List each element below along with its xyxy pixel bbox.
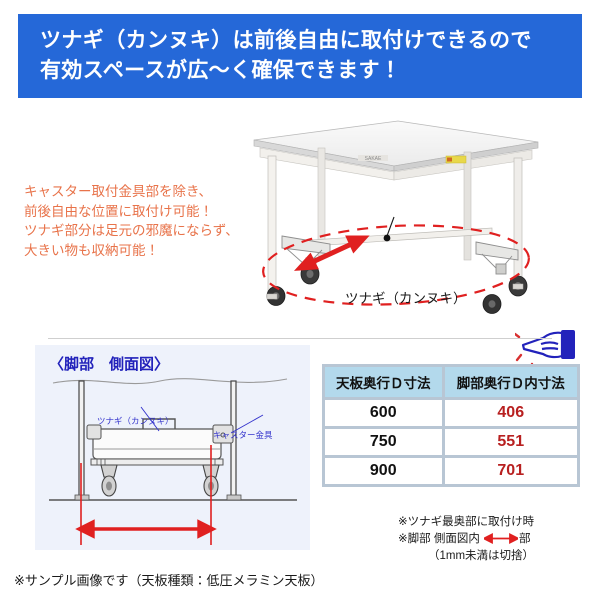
note-line-1: ※ツナギ最奥部に取付け時 [398, 514, 598, 531]
banner-line-2: 有効スペースが広～く確保できます！ [40, 56, 582, 86]
section-divider [48, 338, 552, 339]
cell-top-depth: 750 [325, 429, 442, 455]
product-photo-area: キャスター取付金具部を除き、 前後自由な位置に取付け可能！ ツナギ部分は足元の邪… [0, 104, 600, 336]
table-header-row: 天板奥行Ｄ寸法 脚部奥行Ｄ内寸法 [325, 367, 577, 397]
cell-leg-depth: 701 [445, 458, 578, 484]
banner-line-1: ツナギ（カンヌキ）は前後自由に取付けできるので [40, 26, 582, 56]
table-header-top-depth: 天板奥行Ｄ寸法 [325, 367, 442, 397]
table-notes: ※ツナギ最奥部に取付け時 ※脚部 側面図内 部 （1mm未満は切捨） [398, 514, 598, 565]
leg-side-view-panel: 〈脚部 側面図〉 [35, 345, 310, 550]
sample-image-disclaimer: ※サンプル画像です（天板種類：低圧メラミン天板） [14, 570, 324, 589]
callout-tsunagi-label: ツナギ（カンヌキ） [345, 287, 467, 307]
side-view-drawing [35, 345, 310, 550]
feature-note-line: ツナギ部分は足元の邪魔にならず、 [24, 221, 264, 241]
dimension-table: 天板奥行Ｄ寸法 脚部奥行Ｄ内寸法 600 406 750 551 900 701 [322, 364, 580, 487]
cell-leg-depth: 551 [445, 429, 578, 455]
feature-note-line: キャスター取付金具部を除き、 [24, 182, 264, 202]
feature-note-line: 大きい物も収納可能！ [24, 241, 264, 261]
cell-top-depth: 900 [325, 458, 442, 484]
side-view-label-caster: キャスター金具 [213, 429, 273, 441]
feature-note-text: キャスター取付金具部を除き、 前後自由な位置に取付け可能！ ツナギ部分は足元の邪… [24, 182, 264, 260]
svg-text:SAKAE: SAKAE [365, 156, 382, 162]
table-row: 750 551 [325, 429, 577, 455]
inline-dimension-arrow-icon [484, 533, 518, 544]
feature-note-line: 前後自由な位置に取付け可能！ [24, 202, 264, 222]
cell-top-depth: 600 [325, 400, 442, 426]
note-line-2-prefix: ※脚部 側面図内 [398, 533, 483, 545]
table-row: 600 406 [325, 400, 577, 426]
note-line-2-suffix: 部 [519, 533, 531, 545]
header-banner: ツナギ（カンヌキ）は前後自由に取付けできるので 有効スペースが広～く確保できます… [18, 14, 582, 98]
note-line-2: ※脚部 側面図内 部 [398, 531, 598, 548]
note-line-3: （1mm未満は切捨） [398, 548, 598, 565]
dimension-arrow [79, 522, 213, 536]
table-row: 900 701 [325, 458, 577, 484]
side-view-label-tsunagi: ツナギ（カンヌキ） [97, 415, 174, 427]
cell-leg-depth: 406 [445, 400, 578, 426]
table-header-leg-depth: 脚部奥行Ｄ内寸法 [445, 367, 578, 397]
